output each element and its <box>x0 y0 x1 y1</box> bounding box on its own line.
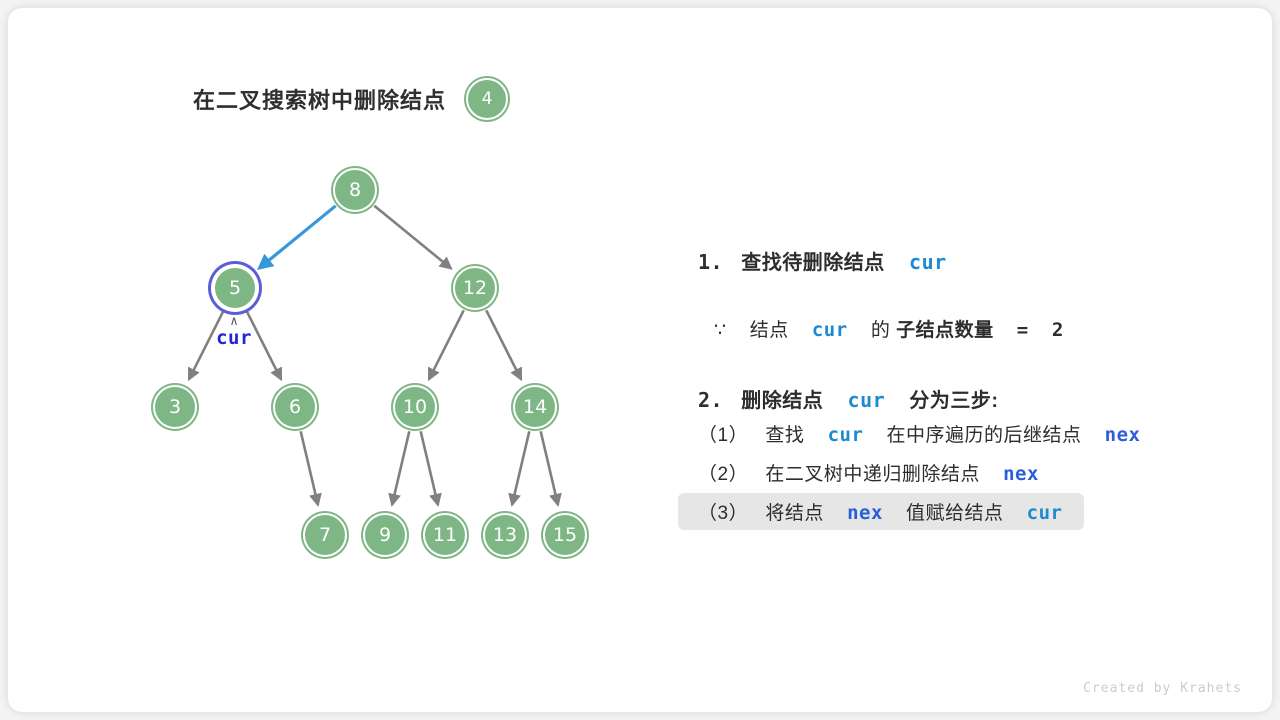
tree-node-10: 10 <box>393 385 437 429</box>
tree-edge-12-14 <box>486 310 521 379</box>
tree-edge-14-15 <box>541 431 558 504</box>
tree-edge-8-12 <box>374 206 451 269</box>
cur-pointer: ∧ cur <box>211 316 257 349</box>
cur-pointer-label: cur <box>211 327 257 349</box>
tree-node-9: 9 <box>363 513 407 557</box>
tree-edge-14-13 <box>512 431 529 504</box>
tree-node-12: 12 <box>453 266 497 310</box>
title-step-badge: 4 <box>466 78 508 120</box>
tree-edge-8-5 <box>259 206 336 269</box>
tree-node-7: 7 <box>303 513 347 557</box>
tree-node-6: 6 <box>273 385 317 429</box>
cur-caret-icon: ∧ <box>211 316 257 327</box>
tree-edge-6-7 <box>301 431 318 504</box>
tree-node-5: 5 <box>213 266 257 310</box>
tree-edge-12-10 <box>429 310 464 379</box>
tree-node-11: 11 <box>423 513 467 557</box>
tree-node-8: 8 <box>333 168 377 212</box>
tree-node-14: 14 <box>513 385 557 429</box>
tree-node-13: 13 <box>483 513 527 557</box>
tree-edge-10-9 <box>392 431 409 504</box>
diagram-root: 在二叉搜索树中删除结点 4 851236101479111315 ∧ cur <box>0 0 1280 720</box>
tree-node-3: 3 <box>153 385 197 429</box>
tree-node-15: 15 <box>543 513 587 557</box>
diagram-stage: 在二叉搜索树中删除结点 4 851236101479111315 ∧ cur <box>0 0 1280 720</box>
tree-edges <box>0 0 1280 720</box>
tree-edge-10-11 <box>421 431 438 504</box>
